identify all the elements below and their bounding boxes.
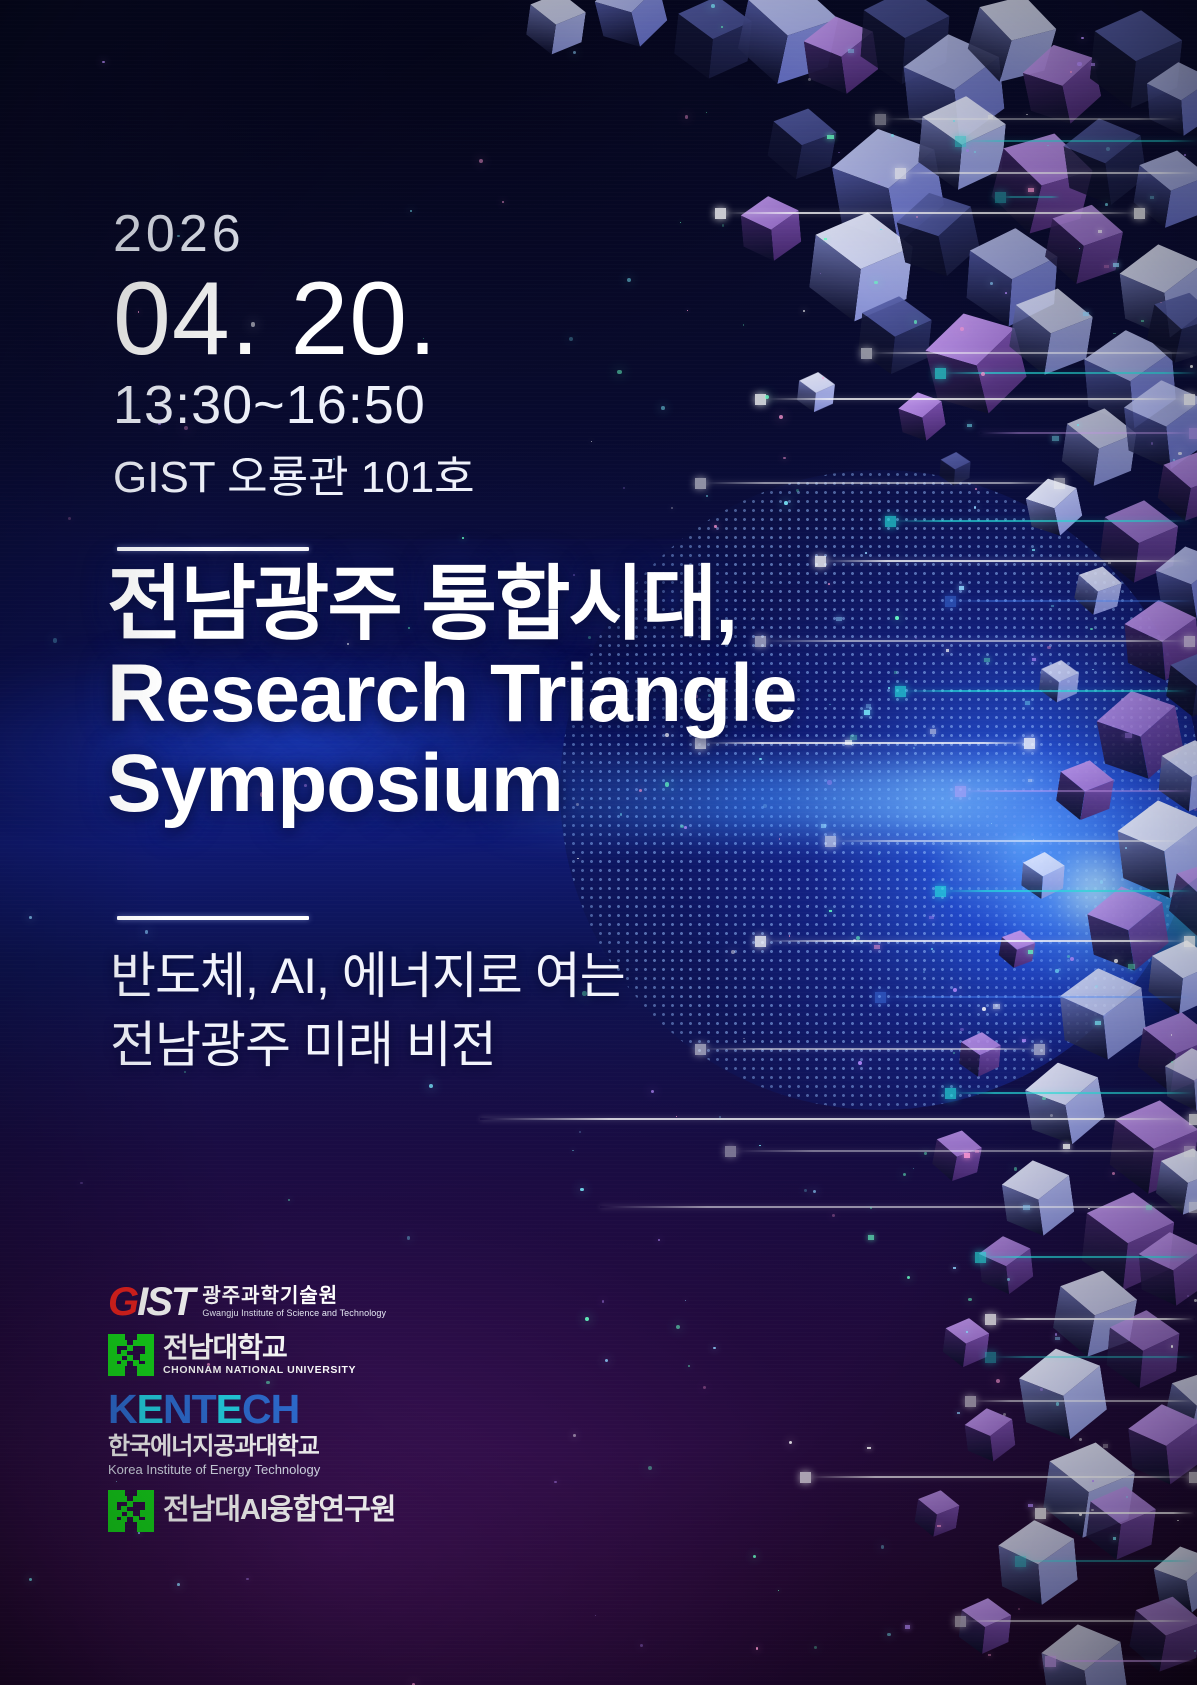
subtitle-line-2: 전남광주 미래 비전 (110, 1011, 625, 1080)
event-venue: GIST 오룡관 101호 (113, 454, 475, 502)
chonnam-ai-emblem-icon (108, 1490, 154, 1532)
kentech-name-en: Korea Institute of Energy Technology (108, 1462, 320, 1478)
gist-mark-secondary: IST (137, 1282, 193, 1322)
title-line-1: 전남광주 통합시대, (107, 560, 1037, 649)
organizer-logos: G IST 광주과학기술원 Gwangju Institute of Scien… (108, 1282, 395, 1544)
page-title: 전남광주 통합시대, Research Triangle Symposium (107, 560, 1037, 828)
gist-wordmark-icon: G IST (108, 1282, 193, 1322)
gist-mark-primary: G (108, 1282, 137, 1322)
kentech-name-kr: 한국에너지공과대학교 (108, 1433, 320, 1461)
poster-canvas: 2026 04. 20. 13:30~16:50 GIST 오룡관 101호 전… (0, 0, 1197, 1685)
logo-cnu-ai-institute: 전남대AI융합연구원 (108, 1490, 395, 1532)
kentech-wordmark-icon: KENTECH (108, 1389, 320, 1430)
gist-name-kr: 광주과학기술원 (202, 1286, 386, 1307)
cnu-ai-name-kr: 전남대AI융합연구원 (163, 1496, 395, 1525)
chonnam-emblem-icon (108, 1334, 154, 1376)
event-date: 04. 20. (113, 264, 475, 374)
event-year: 2026 (113, 208, 475, 260)
divider-bottom (117, 916, 309, 920)
logo-kentech: KENTECH 한국에너지공과대학교 Korea Institute of En… (108, 1389, 395, 1478)
gist-name-en: Gwangju Institute of Science and Technol… (202, 1309, 386, 1319)
subtitle-line-1: 반도체, AI, 에너지로 여는 (110, 942, 625, 1011)
event-time: 13:30~16:50 (113, 376, 475, 435)
logo-chonnam-national-university: 전남대학교 CHONNAM NATIONAL UNIVERSITY (108, 1334, 395, 1377)
title-line-3: Symposium (107, 739, 1037, 828)
divider-top (117, 547, 309, 551)
event-datetime-block: 2026 04. 20. 13:30~16:50 GIST 오룡관 101호 (113, 208, 475, 502)
cnu-name-kr: 전남대학교 (163, 1334, 356, 1362)
logo-gist: G IST 광주과학기술원 Gwangju Institute of Scien… (108, 1282, 395, 1322)
page-subtitle: 반도체, AI, 에너지로 여는 전남광주 미래 비전 (110, 942, 625, 1080)
title-line-2: Research Triangle (107, 649, 1037, 738)
cnu-name-en: CHONNAM NATIONAL UNIVERSITY (163, 1364, 356, 1377)
